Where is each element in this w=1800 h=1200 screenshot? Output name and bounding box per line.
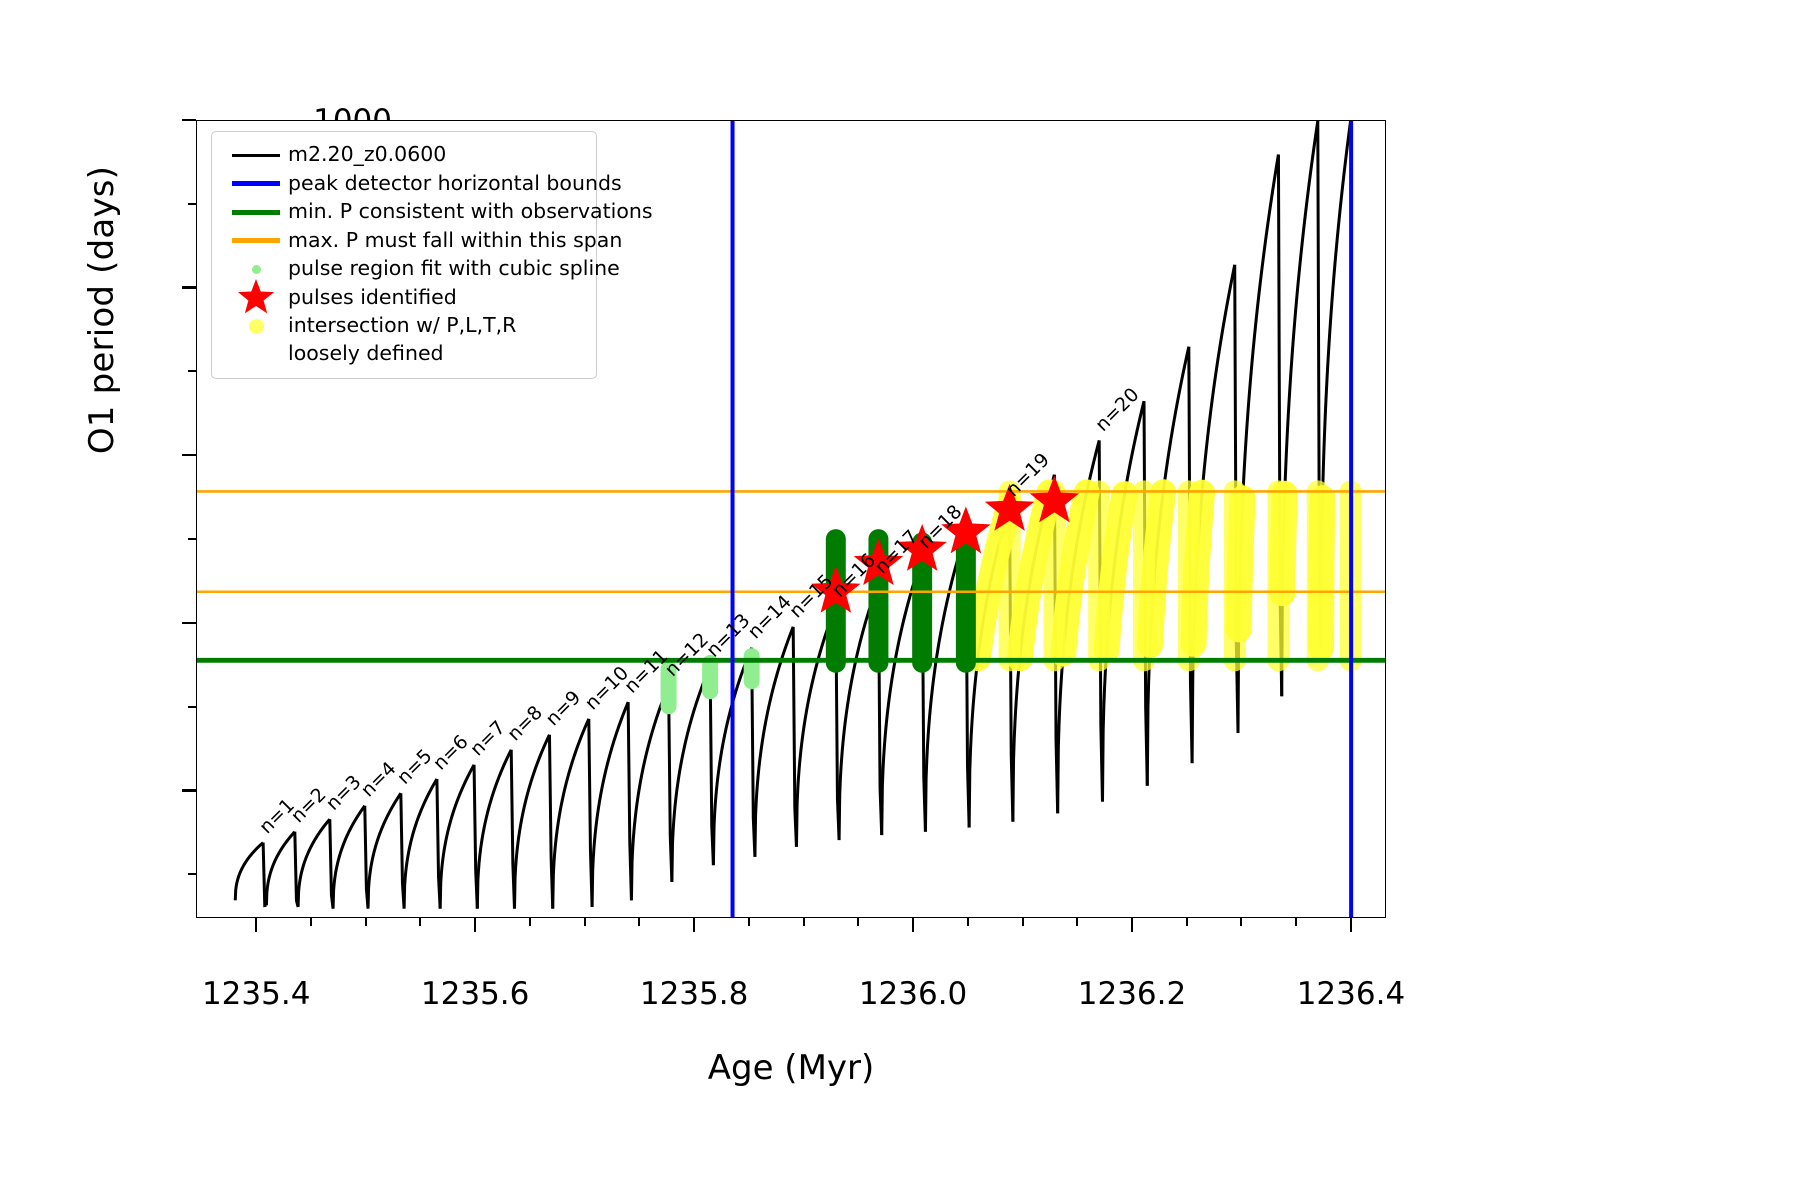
model-track-drop	[295, 832, 298, 907]
cycle-annotation: n=7	[466, 717, 510, 761]
legend-line-swatch	[232, 238, 280, 243]
x-tick-minor	[310, 918, 312, 926]
model-track-drop	[549, 735, 552, 909]
model-track-drop	[401, 793, 404, 908]
legend-key-line	[224, 181, 288, 186]
model-track-cycle	[631, 685, 668, 900]
x-tick-minor	[1076, 918, 1078, 926]
legend-key-line	[224, 210, 288, 215]
cycle-annotation: n=8	[503, 702, 547, 746]
legend-star-swatch	[234, 277, 278, 319]
x-tick-label: 1236.2	[1032, 976, 1232, 1012]
legend-key-dot	[224, 319, 288, 334]
legend-item[interactable]: peak detector horizontal bounds	[224, 170, 584, 199]
legend-item-label: min. P consistent with observations	[288, 201, 653, 223]
legend-dot-swatch	[249, 319, 264, 334]
model-track-cycle	[514, 735, 549, 909]
x-tick-label: 1235.4	[156, 976, 356, 1012]
legend-item-label: pulse region fit with cubic spline	[288, 258, 620, 280]
model-track-cycle	[672, 666, 710, 882]
legend-key-line	[224, 238, 288, 243]
model-track-drop	[669, 685, 672, 881]
legend-key-dot	[224, 265, 288, 274]
model-track-drop	[628, 702, 631, 900]
x-tick-major	[1350, 918, 1352, 932]
model-track-drop	[437, 779, 440, 909]
legend-item[interactable]: loosely defined	[224, 341, 584, 367]
model-track-cycle	[266, 832, 294, 906]
y-tick-minor	[188, 370, 196, 372]
model-track-cycle	[477, 750, 511, 909]
x-axis-label: Age (Myr)	[196, 1048, 1386, 1088]
x-tick-major	[1131, 918, 1133, 932]
model-track-drop	[511, 750, 514, 909]
x-tick-label: 1236.0	[813, 976, 1013, 1012]
x-tick-label: 1235.6	[375, 976, 575, 1012]
x-tick-minor	[967, 918, 969, 926]
y-tick-minor	[188, 203, 196, 205]
legend[interactable]: m2.20_z0.0600peak detector horizontal bo…	[211, 131, 597, 379]
y-tick-minor	[188, 706, 196, 708]
legend-item-label: m2.20_z0.0600	[288, 144, 446, 166]
x-tick-minor	[748, 918, 750, 926]
model-track-cycle	[553, 719, 589, 909]
legend-item[interactable]: pulses identified	[224, 284, 584, 313]
y-tick-minor	[188, 873, 196, 875]
model-track-cycle	[333, 806, 365, 909]
legend-item[interactable]: max. P must fall within this span	[224, 227, 584, 256]
cycle-annotation: n=20	[1091, 384, 1143, 436]
model-track-cycle	[440, 765, 474, 909]
intersection-band	[1321, 498, 1322, 648]
legend-key-star	[224, 277, 288, 319]
model-track-drop	[263, 843, 266, 906]
x-tick-major	[474, 918, 476, 932]
y-tick-major	[182, 286, 196, 288]
x-tick-minor	[1186, 918, 1188, 926]
intersection-band	[1107, 494, 1125, 649]
legend-item-label: max. P must fall within this span	[288, 230, 622, 252]
x-tick-minor	[419, 918, 421, 926]
intersection-band	[1150, 492, 1163, 645]
y-axis-label: O1 period (days)	[82, 90, 122, 530]
x-tick-label: 1236.4	[1251, 976, 1451, 1012]
y-tick-major	[182, 789, 196, 791]
model-track-drop	[330, 819, 333, 908]
cycle-annotation: n=4	[357, 758, 401, 802]
legend-item-label: peak detector horizontal bounds	[288, 173, 622, 195]
x-tick-label: 1235.8	[594, 976, 794, 1012]
x-tick-minor	[803, 918, 805, 926]
y-tick-major	[182, 454, 196, 456]
model-track-cycle	[368, 793, 401, 908]
y-tick-major	[182, 622, 196, 624]
cycle-annotation: n=3	[322, 771, 366, 815]
legend-line-swatch	[232, 210, 280, 215]
x-tick-minor	[638, 918, 640, 926]
figure-canvas: O1 period (days) 2004006008001000 1235.4…	[0, 0, 1800, 1200]
x-tick-major	[912, 918, 914, 932]
legend-dot-swatch	[252, 265, 261, 274]
x-tick-major	[693, 918, 695, 932]
cycle-annotation: n=6	[429, 731, 473, 775]
x-tick-minor	[1022, 918, 1024, 926]
x-tick-minor	[529, 918, 531, 926]
legend-item-label: loosely defined	[288, 343, 444, 365]
intersection-band	[1194, 493, 1203, 644]
model-track-cycle	[298, 819, 330, 907]
x-tick-minor	[1295, 918, 1297, 926]
model-track-drop	[365, 806, 368, 909]
model-track-drop	[589, 719, 592, 907]
y-tick-major	[182, 119, 196, 121]
legend-item[interactable]: min. P consistent with observations	[224, 198, 584, 227]
x-tick-minor	[584, 918, 586, 926]
cycle-annotation: n=5	[393, 745, 437, 789]
legend-line-swatch	[232, 181, 280, 186]
model-track-cycle	[404, 779, 437, 909]
x-tick-minor	[857, 918, 859, 926]
legend-item-label: intersection w/ P,L,T,R	[288, 315, 516, 337]
cycle-annotation: n=9	[541, 686, 585, 730]
intersection-band	[1282, 494, 1284, 594]
legend-key-line	[224, 154, 288, 157]
legend-item-label: pulses identified	[288, 287, 457, 309]
x-tick-minor	[1240, 918, 1242, 926]
x-tick-minor	[365, 918, 367, 926]
x-tick-major	[255, 918, 257, 932]
legend-line-swatch	[232, 154, 280, 157]
cycle-annotation: n=14	[744, 591, 796, 643]
model-track-cycle	[235, 843, 263, 901]
intersection-band	[1239, 498, 1243, 629]
model-track-cycle	[592, 702, 628, 907]
legend-item[interactable]: m2.20_z0.0600	[224, 141, 584, 170]
model-track-drop	[474, 765, 477, 909]
cycle-annotation: n=2	[287, 783, 331, 827]
y-tick-minor	[188, 538, 196, 540]
